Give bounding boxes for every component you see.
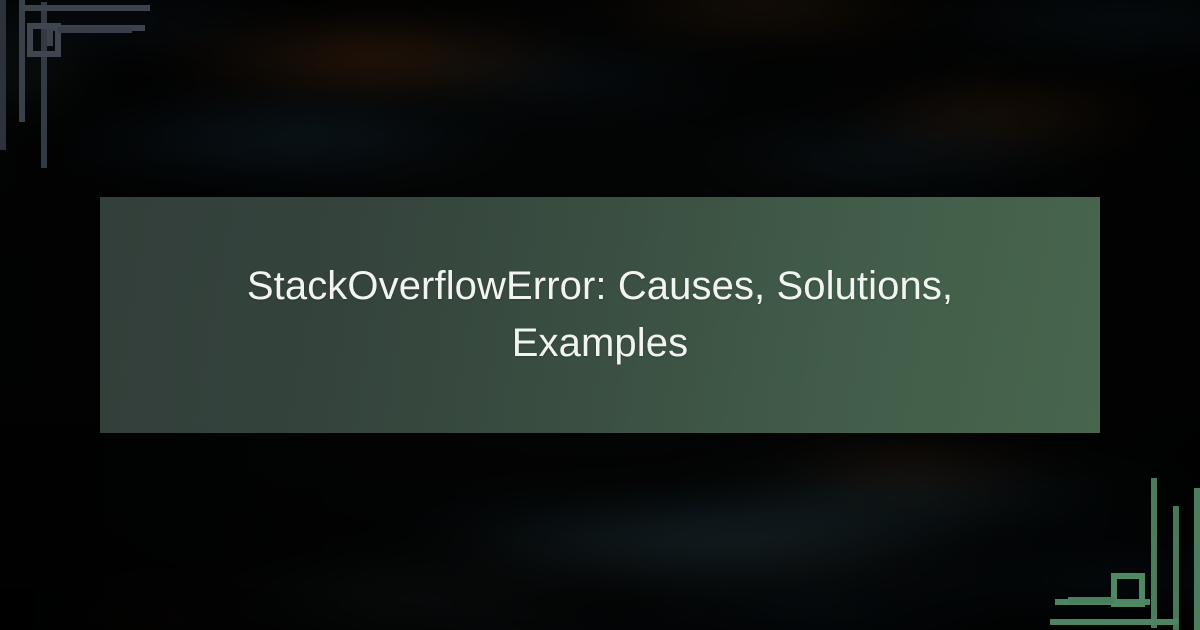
og-banner: StackOverflowError: Causes, Solutions, E… — [0, 0, 1200, 630]
page-title: StackOverflowError: Causes, Solutions, E… — [100, 258, 1100, 372]
title-overlay-card: StackOverflowError: Causes, Solutions, E… — [100, 197, 1100, 433]
